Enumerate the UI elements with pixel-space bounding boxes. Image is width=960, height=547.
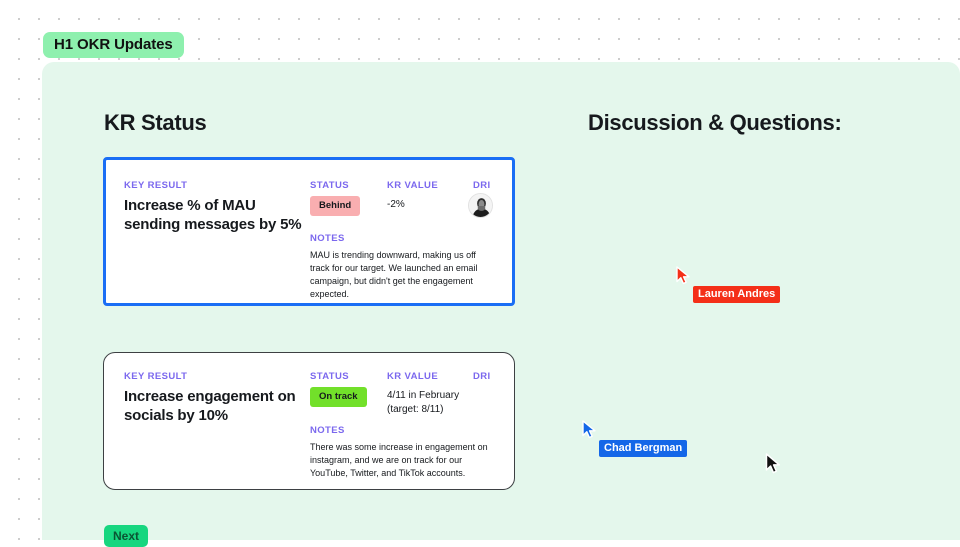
label-notes: NOTES — [310, 425, 345, 436]
label-status: STATUS — [310, 371, 349, 382]
notes-body: MAU is trending downward, making us off … — [310, 249, 490, 300]
label-key-result: KEY RESULT — [124, 371, 187, 382]
label-key-result: KEY RESULT — [124, 180, 187, 191]
collaborator-label-chad: Chad Bergman — [599, 440, 687, 457]
collaborator-cursor-lauren — [676, 266, 692, 290]
label-kr-value: KR VALUE — [387, 180, 438, 191]
label-notes: NOTES — [310, 233, 345, 244]
bottom-sticky-pill[interactable]: Next — [104, 525, 148, 547]
kr-value: 4/11 in February (target: 8/11) — [387, 389, 482, 417]
kr-status-heading: KR Status — [104, 110, 206, 136]
cursor-arrow-icon — [676, 266, 692, 285]
dri-avatar[interactable] — [468, 193, 493, 218]
kr-title: Increase engagement on socials by 10% — [124, 387, 314, 425]
label-kr-value: KR VALUE — [387, 371, 438, 382]
discussion-questions-heading: Discussion & Questions: — [588, 110, 841, 136]
collaborator-label-lauren: Lauren Andres — [693, 286, 780, 303]
pointer-arrow-icon — [765, 453, 782, 475]
label-dri: DRI — [473, 180, 491, 191]
kr-title: Increase % of MAU sending messages by 5% — [124, 196, 314, 234]
mouse-pointer-icon — [765, 453, 782, 480]
kr-card-selected[interactable]: KEY RESULT Increase % of MAU sending mes… — [103, 157, 515, 306]
status-badge-on-track[interactable]: On track — [310, 387, 367, 407]
cursor-arrow-icon — [582, 420, 598, 439]
status-badge-behind[interactable]: Behind — [310, 196, 360, 216]
collaborator-cursor-chad — [582, 420, 598, 444]
frame-title-pill[interactable]: H1 OKR Updates — [43, 32, 184, 58]
person-avatar-icon — [469, 194, 493, 218]
label-dri: DRI — [473, 371, 491, 382]
label-status: STATUS — [310, 180, 349, 191]
notes-body: There was some increase in engagement on… — [310, 441, 490, 480]
kr-card[interactable]: KEY RESULT Increase engagement on social… — [103, 352, 515, 490]
